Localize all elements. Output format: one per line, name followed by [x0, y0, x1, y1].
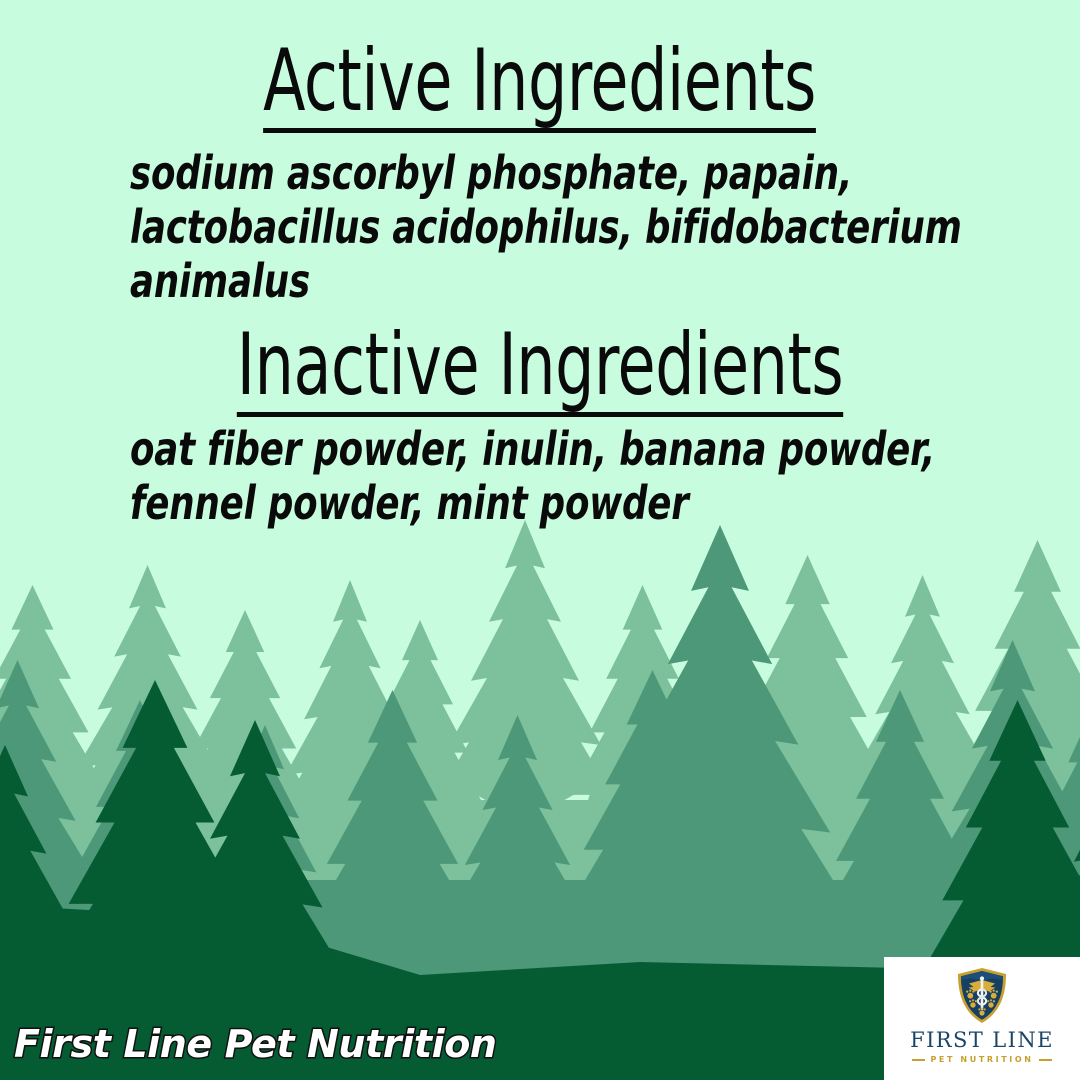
ingredients-poster: Active Ingredients sodium ascorbyl phosp… — [0, 0, 1080, 1080]
brand-wordmark: First Line Pet Nutrition — [14, 1022, 497, 1066]
logo-rule-left — [912, 1059, 925, 1061]
forest-illustration — [0, 0, 1080, 1080]
logo-card: FIRST LINE PET NUTRITION — [884, 957, 1080, 1080]
logo-rule-right — [1039, 1059, 1052, 1061]
logo-tagline: PET NUTRITION — [930, 1056, 1033, 1064]
logo-tagline-row: PET NUTRITION — [912, 1056, 1051, 1064]
shield-caduceus-paws-icon — [956, 967, 1008, 1025]
logo-brand-name: FIRST LINE — [910, 1030, 1054, 1051]
